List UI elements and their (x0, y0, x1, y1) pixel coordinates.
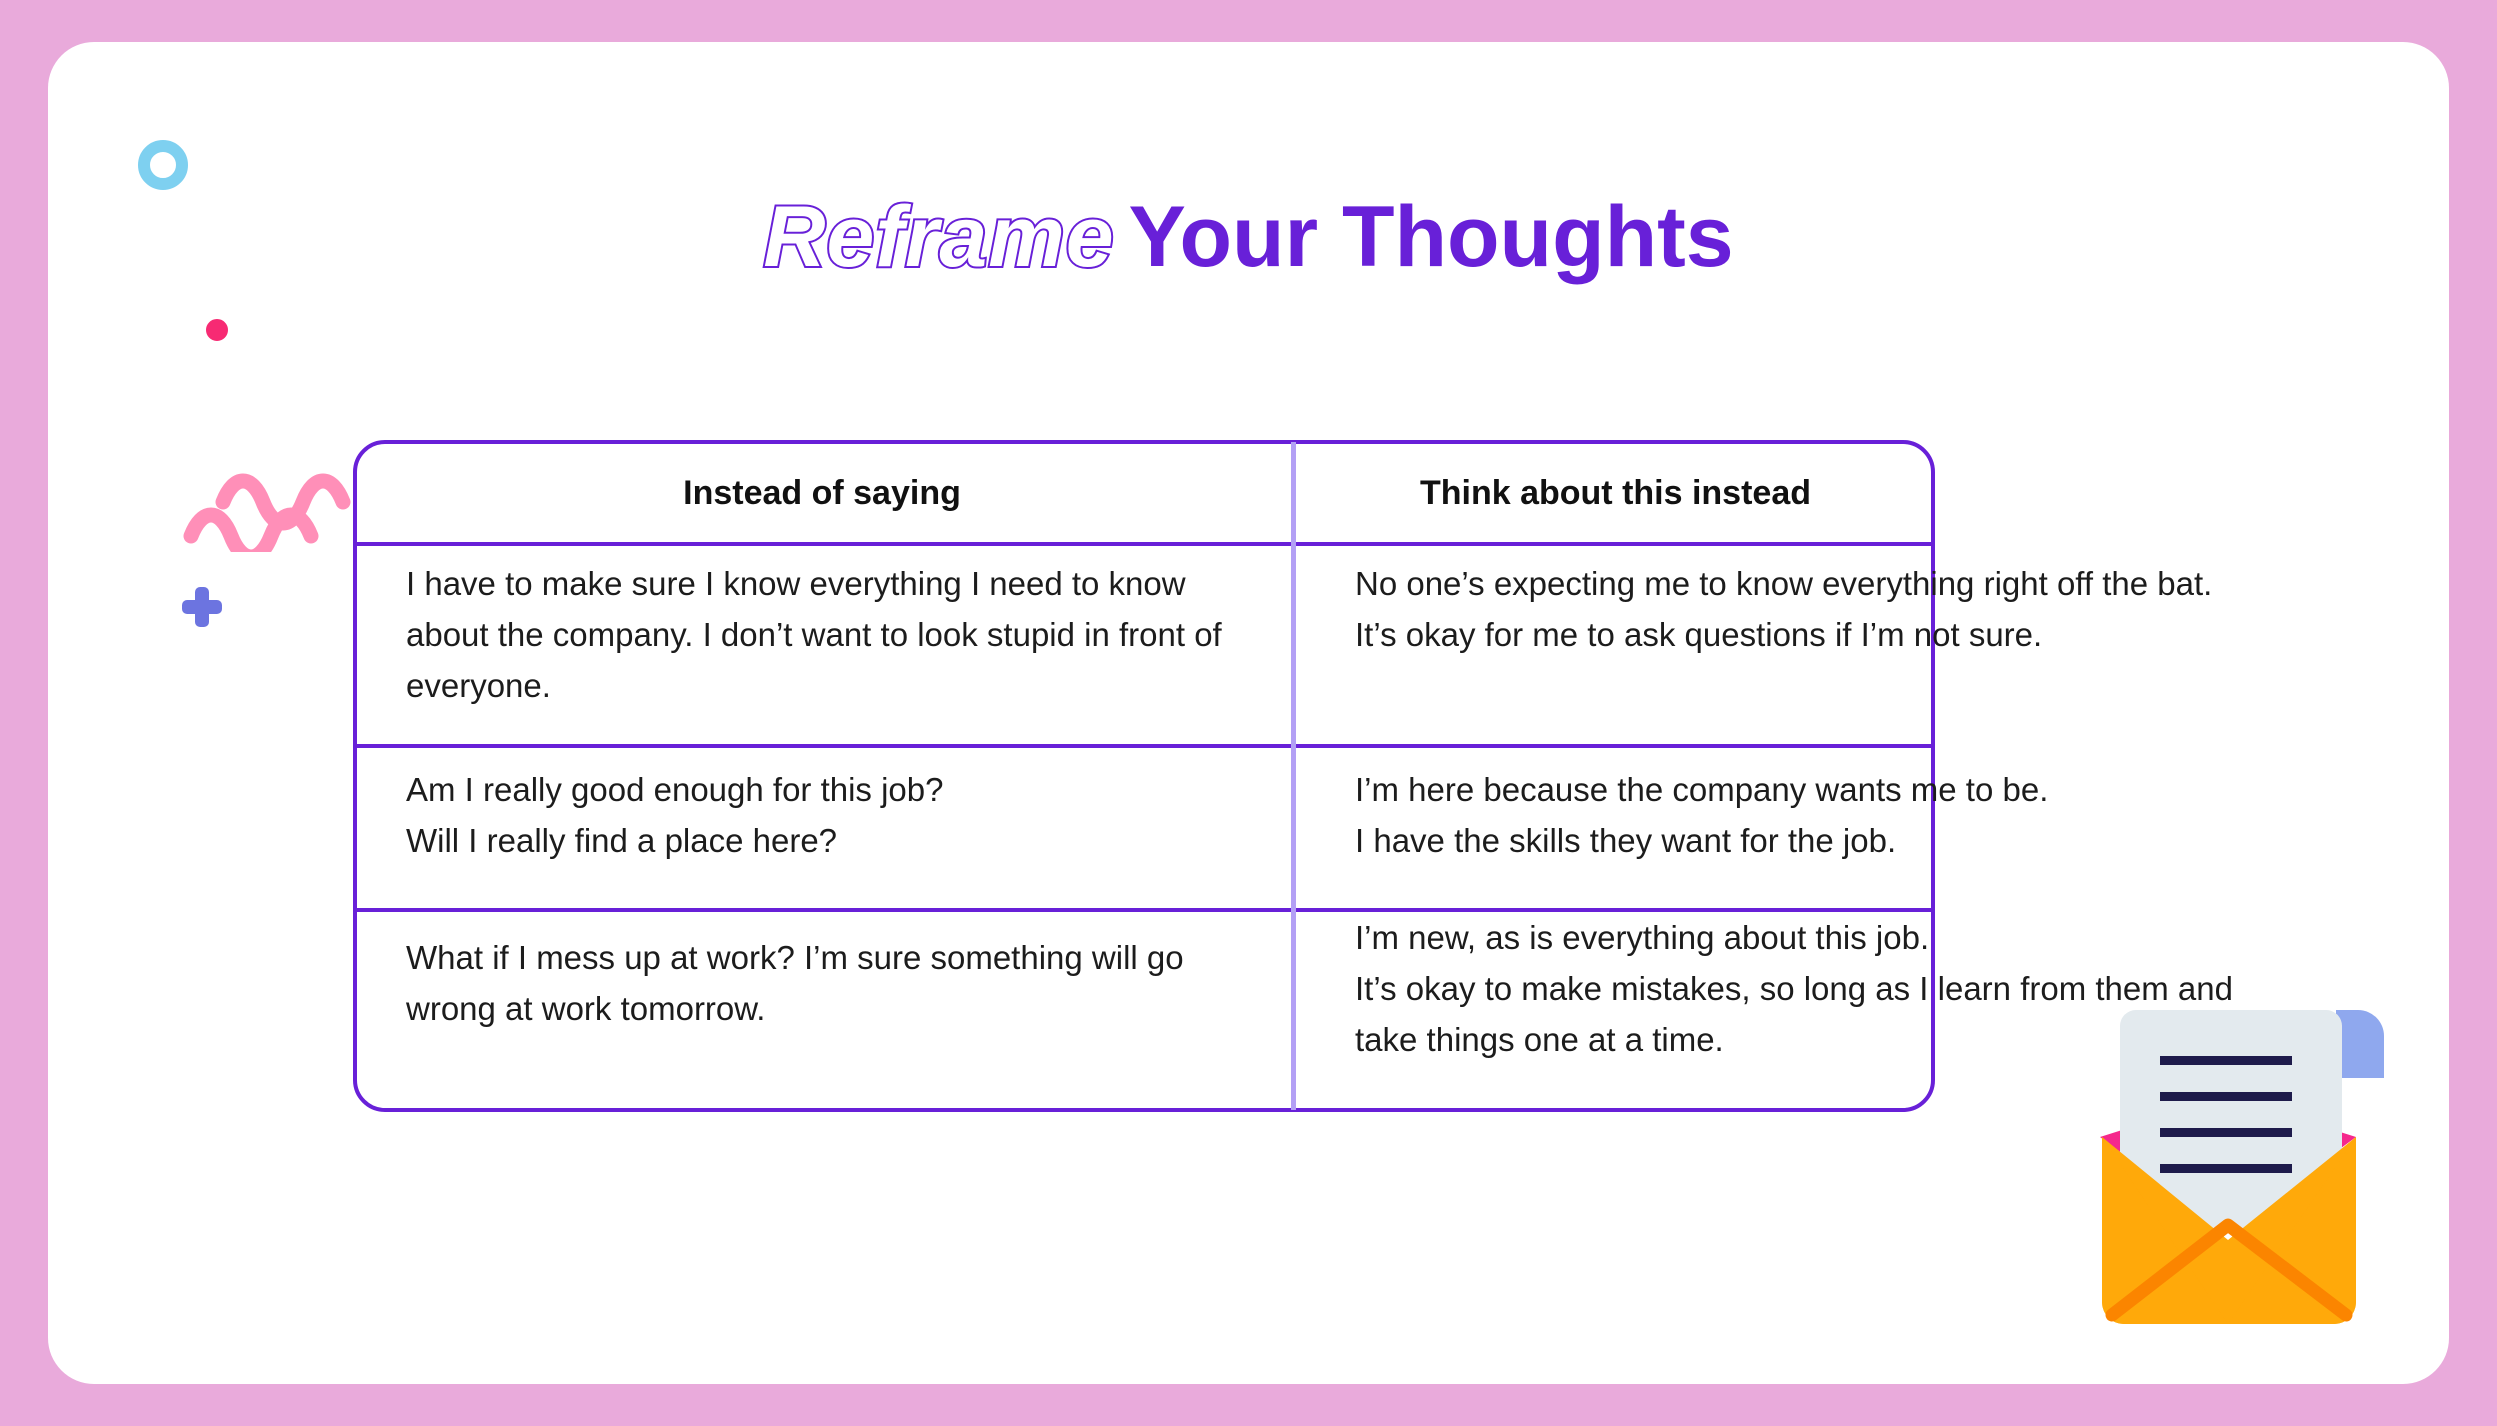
table-rule-1 (353, 744, 1935, 748)
table-cell-r3c1: What if I mess up at work? I’m sure some… (406, 932, 1256, 1034)
page-title: ReframeYour Thoughts (48, 190, 2449, 285)
table-cell-r2c2: I’m here because the company wants me to… (1355, 764, 2235, 866)
table-column-divider (1291, 442, 1296, 1110)
letter-line-1 (2160, 1056, 2292, 1065)
table-cell-r1c2: No one’s expecting me to know everything… (1355, 558, 2215, 660)
title-word-reframe: Reframe (763, 189, 1114, 285)
title-word-rest: Your Thoughts (1129, 189, 1734, 285)
plus-icon (182, 587, 222, 627)
table-rule-header (353, 542, 1935, 546)
envelope-illustration (2078, 997, 2418, 1342)
letter-line-2 (2160, 1092, 2292, 1101)
envelope-blue-tab (2336, 1010, 2384, 1078)
table-header-right: Think about this instead (1296, 474, 1935, 513)
letter-line-4 (2160, 1164, 2292, 1173)
letter-line-3 (2160, 1128, 2292, 1137)
ring-magenta-icon (206, 319, 228, 341)
table-header-left: Instead of saying (353, 474, 1291, 513)
table-cell-r1c1: I have to make sure I know everything I … (406, 558, 1256, 711)
ring-cyan-icon (138, 140, 188, 190)
table-cell-r2c1: Am I really good enough for this job? Wi… (406, 764, 1256, 866)
slide-card: ReframeYour Thoughts Instead of saying T… (48, 42, 2449, 1384)
wavy-lines-icon (183, 462, 353, 552)
